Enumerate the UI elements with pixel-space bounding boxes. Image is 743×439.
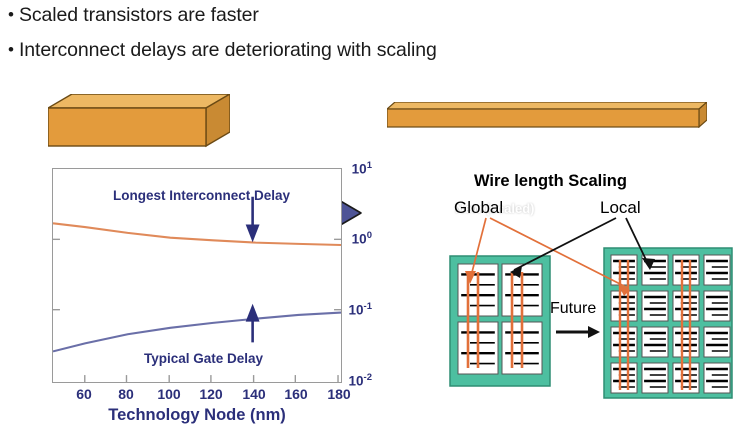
new-transistor-box [387,102,707,128]
wire-diagram-canvas [378,160,743,435]
x-tick-label: 140 [237,386,271,402]
annotation-interconnect: Longest Interconnect Delay [113,188,290,203]
transistor-scaling-figure: Old New (scaled) [0,86,743,156]
list-item: • Interconnect delays are deteriorating … [8,39,728,62]
old-transistor-box [48,94,230,150]
delay-vs-node-chart: Delay Time (ns) 101 100 10-1 10-2 [0,158,372,428]
bullet-marker-icon: • [8,6,14,23]
bullet-list: • Scaled transistors are faster • Interc… [8,4,728,74]
chip-current [450,256,550,386]
x-tick-label: 180 [322,386,356,402]
bullet-text: Interconnect delays are deteriorating wi… [19,39,437,62]
wire-length-scaling-figure: Wire length Scaling Global Local Future [378,160,743,435]
annotation-gate: Typical Gate Delay [144,351,263,366]
bullet-marker-icon: • [8,41,14,58]
x-tick-label: 120 [194,386,228,402]
x-tick-label: 160 [279,386,313,402]
x-tick-label: 100 [152,386,186,402]
chart-x-axis-label: Technology Node (nm) [52,406,342,425]
bullet-text: Scaled transistors are faster [19,4,259,27]
chip-future [604,248,732,398]
future-arrow-icon [556,326,600,338]
x-tick-label: 80 [109,386,143,402]
x-tick-label: 60 [67,386,101,402]
list-item: • Scaled transistors are faster [8,4,728,27]
